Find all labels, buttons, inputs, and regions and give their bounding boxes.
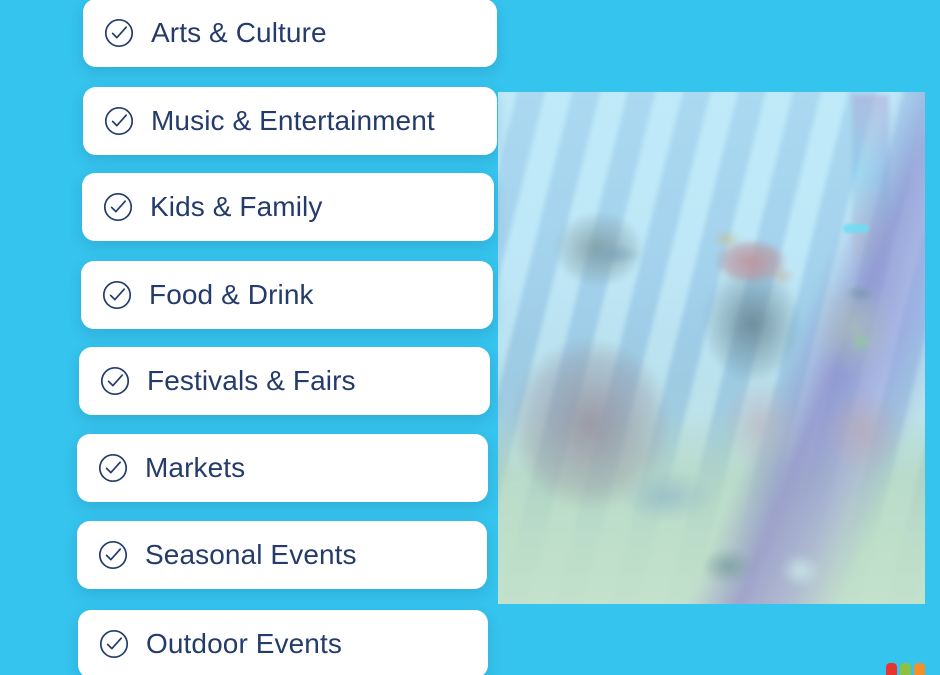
checklist-item-label: Kids & Family	[150, 193, 322, 221]
check-circle-icon	[103, 105, 135, 137]
festival-crowd-photo	[498, 92, 925, 604]
brand-mark-green-bar	[900, 663, 911, 675]
check-circle-icon	[97, 539, 129, 571]
checklist-item-festivals-fairs[interactable]: Festivals & Fairs	[79, 347, 490, 415]
checklist-item-label: Music & Entertainment	[151, 107, 435, 135]
checklist-item-label: Festivals & Fairs	[147, 367, 356, 395]
check-circle-icon	[97, 452, 129, 484]
checklist-item-label: Seasonal Events	[145, 541, 357, 569]
check-circle-icon	[101, 279, 133, 311]
checklist-item-music-entertainment[interactable]: Music & Entertainment	[83, 87, 497, 155]
checklist-item-label: Markets	[145, 454, 245, 482]
checklist-item-outdoor-events[interactable]: Outdoor Events	[78, 610, 488, 675]
checklist-item-arts-culture[interactable]: Arts & Culture	[83, 0, 497, 67]
brand-mark-orange-dot	[914, 663, 925, 675]
check-circle-icon	[102, 191, 134, 223]
checklist-item-markets[interactable]: Markets	[77, 434, 488, 502]
page-background: Arts & Culture Music & Entertainment Kid…	[0, 0, 940, 675]
checklist-item-label: Arts & Culture	[151, 19, 327, 47]
checklist-item-kids-family[interactable]: Kids & Family	[82, 173, 494, 241]
checklist-item-food-drink[interactable]: Food & Drink	[81, 261, 493, 329]
colorful-brand-mark	[886, 663, 930, 675]
checklist-item-label: Food & Drink	[149, 281, 314, 309]
checklist-item-seasonal-events[interactable]: Seasonal Events	[77, 521, 487, 589]
checklist-item-label: Outdoor Events	[146, 630, 342, 658]
event-category-checklist: Arts & Culture Music & Entertainment Kid…	[0, 0, 520, 675]
brand-mark-red-bar	[886, 663, 897, 675]
check-circle-icon	[99, 365, 131, 397]
check-circle-icon	[103, 17, 135, 49]
check-circle-icon	[98, 628, 130, 660]
photo-gradient-overlay	[498, 92, 925, 604]
